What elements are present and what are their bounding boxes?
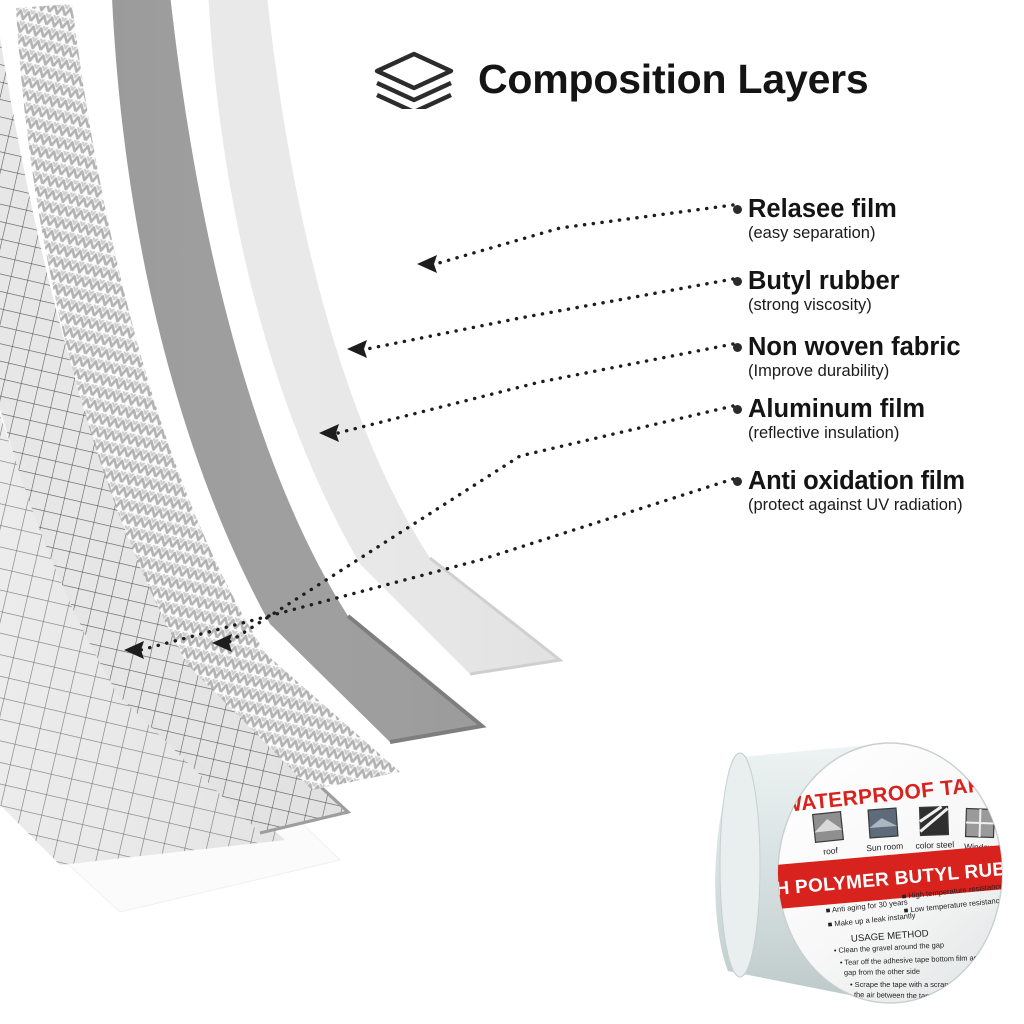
callout-dot-marker [733,205,742,214]
callout-dot-marker [733,277,742,286]
callout-non-woven-fabric: Non woven fabric (Improve durability) [748,334,961,380]
callout-release-film: Relasee film (easy separation) [748,196,897,242]
callout-dot-marker [733,343,742,352]
infographic-canvas: Composition Layers Relasee film (easy se… [0,0,1024,1024]
page-title: Composition Layers [478,59,869,100]
thumbnail-caption-roof: roof [823,845,839,857]
callout-title: Butyl rubber [748,268,900,295]
callout-aluminum-film: Aluminum film (reflective insulation) [748,396,925,442]
callout-subtitle: (Improve durability) [748,362,961,381]
callout-title: Non woven fabric [748,334,961,361]
thumbnail-caption-color-steel: color steel [915,839,954,850]
usage-step: gap from the other side [844,967,920,977]
callout-title: Relasee film [748,196,897,223]
tape-roll-product: WATERPROOF TAPE roof Sun room [694,735,1014,1010]
callout-butyl-rubber: Butyl rubber (strong viscosity) [748,268,900,314]
callout-subtitle: (protect against UV radiation) [748,496,965,515]
callout-subtitle: (easy separation) [748,224,897,243]
page-header: Composition Layers [372,44,1012,114]
usage-step: • Scrape the tape with a scraper, and em… [850,980,993,989]
callout-subtitle: (strong viscosity) [748,296,900,315]
callout-dot-marker [733,477,742,486]
callout-anti-oxidation-film: Anti oxidation film (protect against UV … [748,468,965,514]
roll-far-edge [720,753,760,977]
callout-title: Anti oxidation film [748,468,965,495]
callout-subtitle: (reflective insulation) [748,424,925,443]
stacked-layers-icon [372,49,456,109]
callout-title: Aluminum film [748,396,925,423]
callout-dot-marker [733,405,742,414]
layer-stack-illustration [0,0,760,960]
